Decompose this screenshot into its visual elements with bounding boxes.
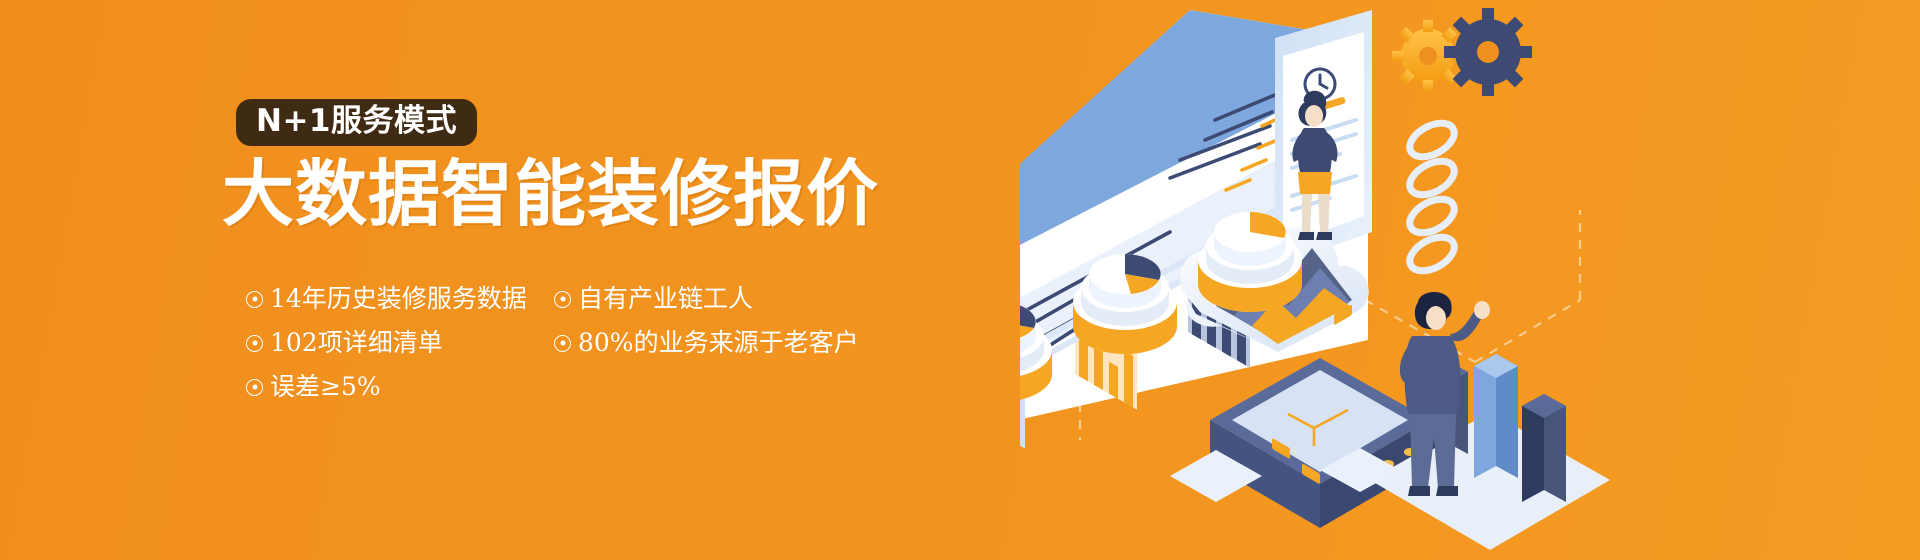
list-item-label: 80%的业务来源于老客户 [578, 321, 859, 365]
feature-column-left: 14年历史装修服务数据 102项详细清单 误差≥5% [246, 277, 527, 409]
list-item: 14年历史装修服务数据 [246, 277, 527, 321]
list-item: 误差≥5% [246, 365, 527, 409]
list-item-label: 14年历史装修服务数据 [270, 277, 527, 321]
list-item: 80%的业务来源于老客户 [554, 321, 859, 365]
circled-dot-icon [246, 379, 263, 396]
gear-large-navy [1444, 8, 1532, 96]
circled-dot-icon [554, 291, 571, 308]
list-item: 102项详细清单 [246, 321, 527, 365]
ring-stack-right [1404, 116, 1460, 277]
circled-dot-icon [246, 291, 263, 308]
promo-banner: N+1服务模式 大数据智能装修报价 14年历史装修服务数据 102项详细清单 误… [0, 0, 1920, 560]
isometric-illustration [1020, 0, 1920, 560]
circled-dot-icon [246, 335, 263, 352]
list-item-label: 自有产业链工人 [578, 277, 753, 321]
list-item-label: 误差≥5% [270, 365, 381, 409]
service-mode-badge: N+1服务模式 [236, 99, 477, 146]
feature-column-right: 自有产业链工人 80%的业务来源于老客户 [554, 277, 859, 365]
list-item: 自有产业链工人 [554, 277, 859, 321]
circled-dot-icon [554, 335, 571, 352]
list-item-label: 102项详细清单 [270, 321, 443, 365]
copy-block: N+1服务模式 大数据智能装修报价 14年历史装修服务数据 102项详细清单 误… [0, 0, 1060, 560]
page-title: 大数据智能装修报价 [222, 158, 879, 230]
